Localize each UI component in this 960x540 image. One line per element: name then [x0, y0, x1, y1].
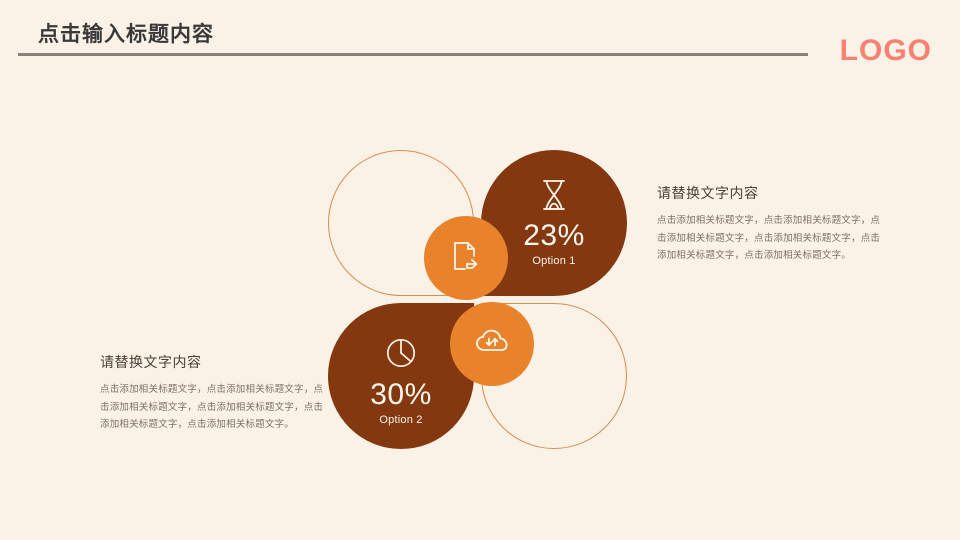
text-block-left-body: 点击添加相关标题文字，点击添加相关标题文字，点击添加相关标题文字，点击添加相关标… — [100, 381, 326, 434]
page-header: 点击输入标题内容 LOGO — [0, 0, 960, 90]
text-block-right: 请替换文字内容 点击添加相关标题文字，点击添加相关标题文字，点击添加相关标题文字… — [657, 183, 883, 265]
petal-diagram: 23% Option 1 30% Option 2 — [328, 150, 630, 452]
icon-circle-cloud[interactable] — [450, 302, 534, 386]
title-divider — [18, 53, 808, 56]
text-block-left-heading: 请替换文字内容 — [100, 352, 326, 372]
text-block-left: 请替换文字内容 点击添加相关标题文字，点击添加相关标题文字，点击添加相关标题文字… — [100, 352, 326, 434]
cloud-sync-icon — [475, 328, 509, 361]
petal-bottom-left-label: Option 2 — [328, 414, 474, 426]
text-block-right-heading: 请替换文字内容 — [657, 183, 883, 203]
page-title: 点击输入标题内容 — [38, 18, 214, 48]
icon-circle-document[interactable] — [424, 216, 508, 300]
hourglass-icon — [481, 178, 627, 212]
text-block-right-body: 点击添加相关标题文字，点击添加相关标题文字，点击添加相关标题文字，点击添加相关标… — [657, 212, 883, 265]
document-export-icon — [451, 240, 481, 277]
petal-bottom-left-percent: 30% — [328, 379, 474, 411]
petal-bottom-left[interactable]: 30% Option 2 — [328, 303, 474, 449]
logo: LOGO — [840, 34, 932, 68]
